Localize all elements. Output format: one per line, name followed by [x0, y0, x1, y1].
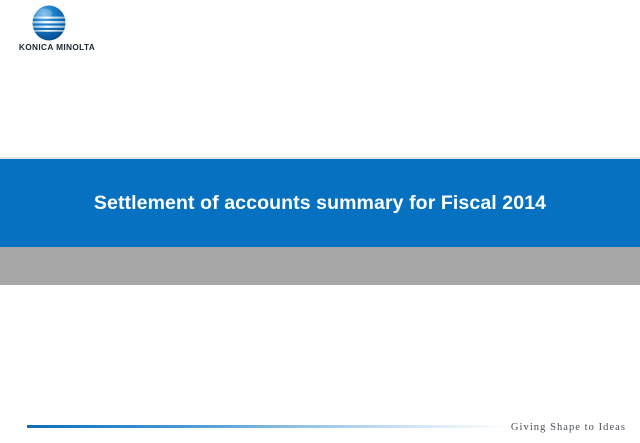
- globe-icon-svg: [26, 5, 72, 41]
- footer-gradient-rule: [27, 425, 507, 428]
- brand-wordmark: KONICA MINOLTA: [12, 42, 102, 52]
- slide-content-area: [0, 285, 640, 418]
- page-title: Settlement of accounts summary for Fisca…: [74, 192, 566, 215]
- accent-band: [0, 247, 640, 285]
- brand-logo: KONICA MINOLTA: [12, 5, 102, 55]
- brand-tagline: Giving Shape to Ideas: [511, 422, 626, 433]
- title-band: Settlement of accounts summary for Fisca…: [0, 159, 640, 247]
- konica-minolta-globe-icon: [26, 5, 72, 41]
- presentation-slide: KONICA MINOLTA Settlement of accounts su…: [0, 0, 640, 443]
